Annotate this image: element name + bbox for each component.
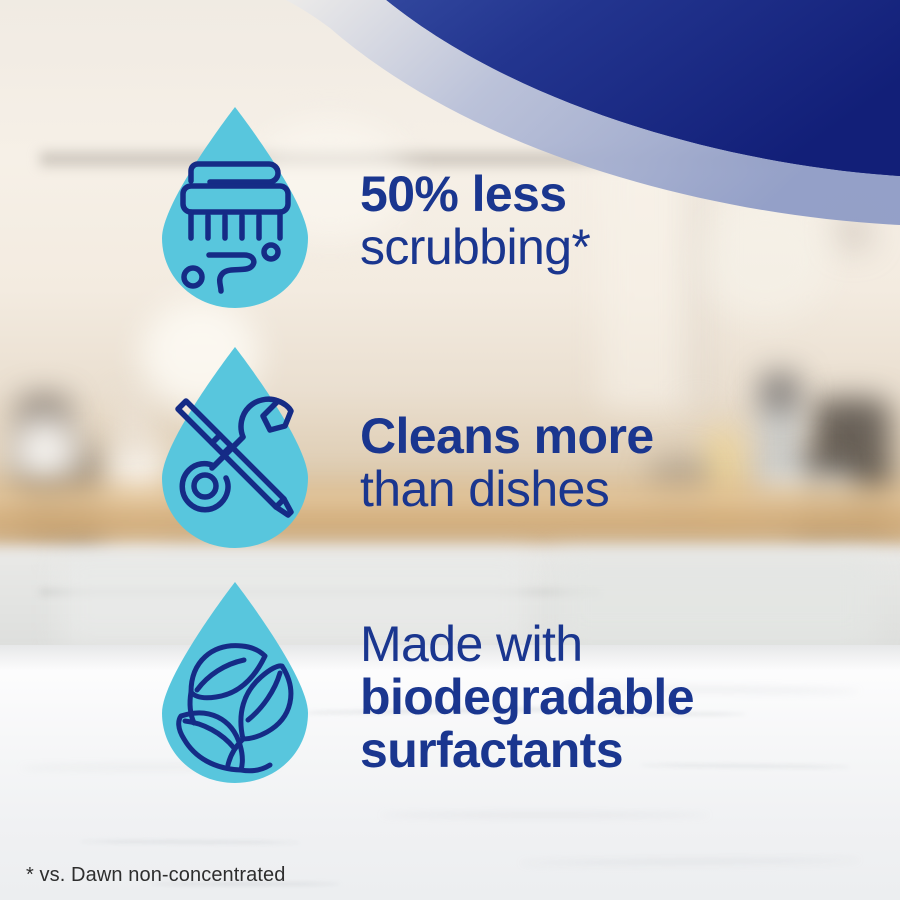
benefit-text-cleans-more: Cleans more than dishes [360, 410, 654, 516]
background-blur-shape [760, 372, 800, 412]
background-blur-shape [700, 200, 830, 320]
footnote-disclaimer: * vs. Dawn non-concentrated [26, 864, 286, 887]
benefit-line-1: Made with [360, 618, 694, 671]
product-benefits-graphic: 50% less scrubbing* [0, 0, 900, 900]
benefit-line-2: than dishes [360, 463, 654, 516]
benefit-line-1: 50% less [360, 168, 590, 221]
marble-vein [520, 858, 860, 866]
benefit-line-2: biodegradable [360, 671, 694, 724]
background-blur-shape [836, 214, 872, 250]
benefit-line-2: scrubbing* [360, 221, 590, 274]
benefit-text-biodegradable: Made with biodegradable surfactants [360, 618, 694, 777]
background-blur-shape [600, 150, 690, 410]
background-blur-shape [118, 395, 148, 455]
benefit-droplet-biodegradable [150, 580, 320, 785]
marble-vein [80, 840, 300, 843]
marble-vein [380, 813, 710, 817]
benefit-droplet-less-scrubbing [150, 105, 320, 310]
benefit-text-less-scrubbing: 50% less scrubbing* [360, 168, 590, 274]
benefit-line-3: surfactants [360, 724, 694, 777]
benefit-droplet-cleans-more [150, 345, 320, 550]
benefit-line-1: Cleans more [360, 410, 654, 463]
